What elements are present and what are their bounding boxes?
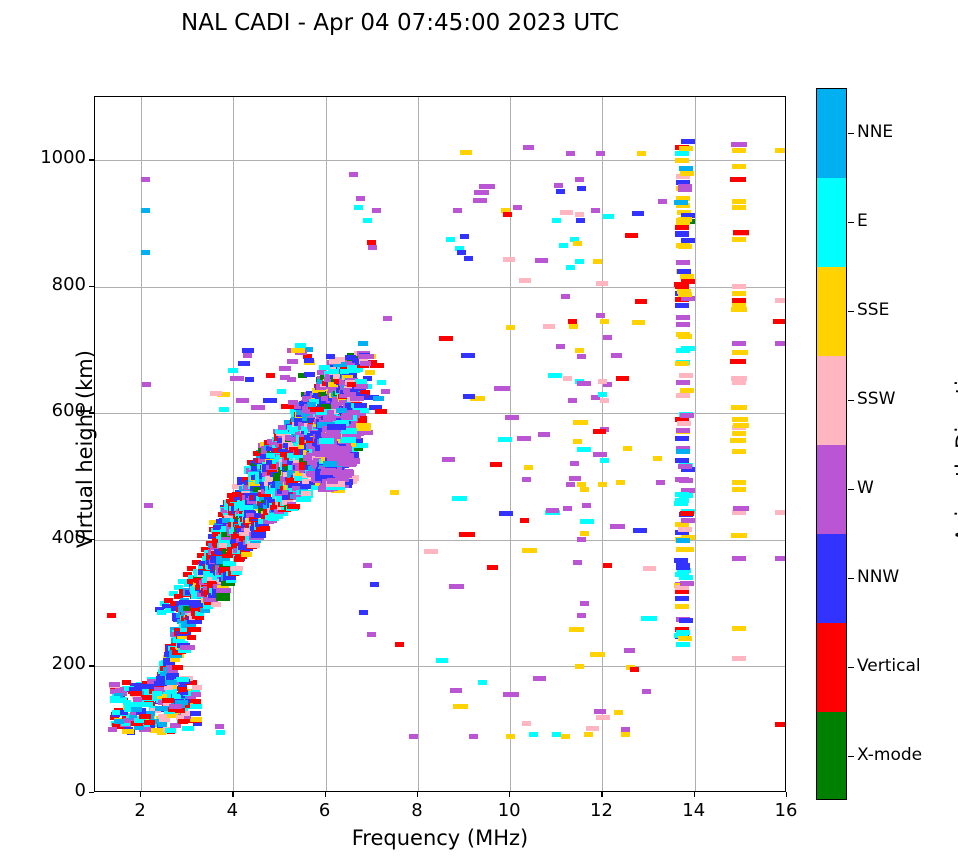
- echo-mark: [442, 457, 455, 462]
- echo-mark: [633, 528, 647, 533]
- echo-mark: [506, 734, 515, 739]
- echo-mark: [336, 408, 347, 413]
- echo-mark: [775, 722, 786, 727]
- echo-mark: [238, 361, 250, 366]
- echo-mark: [679, 146, 693, 151]
- echo-mark: [554, 183, 563, 188]
- echo-mark: [358, 341, 368, 346]
- x-tick: [325, 792, 326, 797]
- echo-mark: [479, 184, 495, 189]
- echo-mark: [304, 372, 315, 377]
- echo-mark: [409, 734, 418, 739]
- echo-mark: [513, 205, 522, 210]
- echo-mark: [575, 664, 584, 669]
- echo-mark: [165, 680, 177, 685]
- echo-mark: [360, 361, 371, 366]
- echo-mark: [363, 218, 372, 223]
- ionogram-figure: NAL CADI - Apr 04 07:45:00 2023 UTC 2468…: [0, 0, 958, 857]
- echo-mark: [582, 503, 591, 508]
- echo-mark: [675, 604, 689, 609]
- echo-mark: [142, 684, 154, 689]
- echo-mark: [680, 388, 694, 393]
- echo-mark: [144, 503, 153, 508]
- echo-mark: [731, 376, 747, 381]
- echo-mark: [575, 212, 584, 217]
- echo-mark: [375, 409, 387, 414]
- echo-mark: [596, 151, 605, 156]
- colorbar-tick-label: NNW: [857, 567, 899, 587]
- echo-mark: [775, 510, 786, 515]
- echo-mark: [499, 511, 513, 516]
- echo-mark: [390, 490, 399, 495]
- x-tick-label: 8: [387, 800, 447, 821]
- echo-mark: [732, 148, 746, 153]
- echo-mark: [559, 243, 568, 248]
- echo-mark: [676, 642, 690, 647]
- echo-mark: [577, 613, 586, 618]
- echo-mark: [600, 398, 609, 403]
- echo-mark: [241, 552, 252, 557]
- echo-mark: [678, 187, 692, 192]
- echo-mark: [354, 205, 363, 210]
- echo-mark: [503, 692, 519, 697]
- colorbar-band-nne: [817, 89, 846, 178]
- echo-mark: [522, 548, 537, 553]
- colorbar-tick-label: X-mode: [857, 745, 922, 765]
- echo-mark: [319, 438, 334, 444]
- echo-mark: [193, 704, 202, 709]
- colorbar-tick: [848, 489, 854, 490]
- echo-mark: [329, 359, 341, 364]
- echo-mark: [676, 565, 690, 570]
- echo-mark: [680, 581, 694, 586]
- echo-mark: [678, 464, 692, 469]
- echo-mark: [304, 358, 314, 363]
- echo-mark: [190, 711, 201, 716]
- echo-mark: [155, 706, 168, 711]
- echo-mark: [301, 491, 311, 496]
- colorbar-tick: [848, 756, 854, 757]
- echo-mark: [580, 487, 589, 492]
- echo-mark: [732, 350, 748, 355]
- echo-mark: [395, 642, 404, 647]
- colorbar-tick: [848, 133, 854, 134]
- echo-mark: [681, 518, 695, 523]
- echo-mark: [730, 359, 746, 364]
- echo-mark: [517, 436, 531, 441]
- echo-mark: [732, 199, 746, 204]
- echo-mark: [178, 719, 188, 724]
- echo-mark: [190, 717, 202, 722]
- echo-mark: [460, 150, 472, 155]
- echo-mark: [632, 320, 645, 325]
- echo-mark: [370, 582, 379, 587]
- echo-mark: [603, 563, 612, 568]
- echo-mark: [596, 715, 610, 720]
- echo-mark: [287, 504, 300, 509]
- x-tick-label: 14: [664, 800, 724, 821]
- echo-mark: [109, 682, 120, 687]
- echo-mark: [603, 335, 612, 340]
- echo-mark: [332, 455, 347, 461]
- echo-mark: [277, 389, 286, 394]
- echo-mark: [678, 636, 692, 641]
- echo-mark: [341, 414, 353, 420]
- echo-mark: [280, 375, 290, 380]
- echo-mark: [566, 265, 575, 270]
- echo-mark: [732, 205, 746, 210]
- echo-mark: [596, 281, 608, 286]
- echo-mark: [552, 218, 561, 223]
- echo-mark: [732, 431, 746, 436]
- echo-mark: [676, 315, 690, 320]
- echo-mark: [474, 190, 489, 195]
- echo-mark: [452, 496, 467, 501]
- echo-mark: [624, 648, 635, 653]
- echo-mark: [680, 171, 694, 176]
- echo-mark: [676, 220, 690, 225]
- echo-mark: [580, 519, 594, 524]
- echo-mark: [621, 732, 630, 737]
- echo-mark: [347, 382, 356, 387]
- echo-mark: [357, 384, 368, 389]
- colorbar-tick-label: NNE: [857, 122, 893, 142]
- echo-mark: [656, 480, 665, 485]
- echo-mark: [130, 691, 142, 696]
- echo-mark: [368, 245, 377, 250]
- echo-mark: [245, 377, 254, 382]
- echo-mark: [162, 698, 174, 703]
- echo-mark: [643, 566, 656, 571]
- echo-mark: [580, 531, 589, 536]
- echo-mark: [210, 391, 222, 396]
- colorbar-band-x-mode: [817, 712, 846, 800]
- echo-mark: [523, 145, 534, 150]
- echo-mark: [594, 709, 606, 714]
- echo-mark: [679, 575, 693, 580]
- echo-mark: [731, 307, 747, 312]
- echo-mark: [133, 697, 142, 702]
- echo-mark: [593, 259, 602, 264]
- echo-mark: [676, 538, 690, 543]
- echo-mark: [349, 172, 358, 177]
- echo-mark: [616, 376, 629, 381]
- x-tick-label: 12: [571, 800, 631, 821]
- echo-mark: [680, 547, 694, 552]
- echo-mark: [490, 462, 502, 467]
- colorbar-tick-label: E: [857, 211, 868, 231]
- echo-mark: [598, 482, 607, 487]
- echo-mark: [593, 429, 606, 434]
- x-tick-label: 16: [756, 800, 816, 821]
- echo-mark: [461, 353, 475, 358]
- echo-mark: [141, 208, 150, 213]
- gridline-vertical: [695, 97, 696, 791]
- echo-mark: [195, 615, 204, 620]
- echo-mark: [503, 212, 512, 217]
- echo-mark: [577, 537, 586, 542]
- echo-mark: [675, 158, 689, 163]
- echo-mark: [641, 616, 657, 621]
- echo-mark: [573, 560, 582, 565]
- echo-mark: [383, 316, 392, 321]
- echo-mark: [732, 237, 746, 242]
- echo-mark: [598, 392, 607, 397]
- echo-mark: [122, 680, 131, 685]
- echo-mark: [288, 400, 298, 405]
- colorbar-tick: [848, 400, 854, 401]
- echo-mark: [236, 398, 249, 403]
- echo-mark: [260, 526, 270, 531]
- echo-mark: [775, 556, 786, 561]
- echo-mark: [681, 296, 695, 301]
- x-tick-label: 2: [110, 800, 170, 821]
- x-tick-label: 4: [202, 800, 262, 821]
- echo-mark: [732, 341, 746, 346]
- echo-mark: [535, 258, 548, 263]
- gridline-vertical: [602, 97, 603, 791]
- echo-mark: [457, 250, 466, 255]
- x-tick: [232, 792, 233, 797]
- echo-mark: [732, 164, 746, 169]
- echo-mark: [152, 691, 162, 696]
- echo-mark: [216, 588, 231, 593]
- x-tick: [601, 792, 602, 797]
- echo-mark: [370, 363, 384, 368]
- echo-mark: [611, 353, 622, 358]
- echo-mark: [377, 380, 386, 385]
- echo-mark: [263, 398, 277, 403]
- x-axis-label: Frequency (MHz): [94, 826, 786, 850]
- echo-mark: [674, 501, 688, 506]
- echo-mark: [164, 685, 173, 690]
- gridline-vertical: [510, 97, 511, 791]
- echo-mark: [676, 449, 690, 454]
- echo-mark: [180, 645, 195, 650]
- echo-mark: [487, 565, 498, 570]
- echo-mark: [543, 324, 555, 329]
- echo-mark: [327, 424, 346, 430]
- echo-mark: [653, 456, 662, 461]
- x-tick-label: 10: [479, 800, 539, 821]
- echo-mark: [307, 402, 316, 407]
- echo-mark: [678, 334, 692, 339]
- colorbar-tick-label: W: [857, 478, 874, 498]
- echo-mark: [439, 336, 453, 341]
- echo-mark: [243, 353, 252, 358]
- echo-mark: [141, 250, 150, 255]
- echo-mark: [546, 508, 559, 513]
- echo-mark: [586, 726, 599, 731]
- echo-mark: [356, 196, 365, 201]
- echo-mark: [732, 417, 748, 422]
- echo-mark: [573, 420, 588, 425]
- echo-mark: [150, 728, 163, 733]
- echo-mark: [678, 292, 692, 297]
- echo-mark: [616, 480, 625, 485]
- echo-mark: [675, 151, 689, 156]
- echo-mark: [730, 438, 746, 443]
- echo-mark: [327, 478, 338, 484]
- x-tick: [140, 792, 141, 797]
- echo-mark: [563, 376, 572, 381]
- echo-mark: [577, 447, 591, 452]
- echo-mark: [449, 584, 464, 589]
- echo-mark: [732, 626, 746, 631]
- echo-mark: [679, 618, 693, 623]
- echo-mark: [498, 437, 512, 442]
- echo-mark: [503, 257, 515, 262]
- echo-mark: [600, 458, 609, 463]
- echo-mark: [172, 665, 183, 670]
- echo-mark: [580, 601, 589, 606]
- echo-mark: [676, 393, 690, 398]
- echo-mark: [577, 186, 586, 191]
- echo-mark: [625, 233, 638, 238]
- echo-mark: [192, 685, 202, 690]
- echo-mark: [679, 166, 693, 171]
- echo-mark: [158, 722, 167, 727]
- echo-mark: [732, 480, 746, 485]
- echo-mark: [732, 556, 746, 561]
- echo-mark: [731, 533, 747, 538]
- colorbar: [816, 88, 847, 800]
- echo-mark: [637, 151, 646, 156]
- gridline-vertical: [418, 97, 419, 791]
- echo-mark: [677, 269, 691, 274]
- echo-mark: [575, 177, 584, 182]
- echo-mark: [675, 436, 689, 441]
- echo-mark: [142, 382, 151, 387]
- echo-mark: [424, 549, 438, 554]
- y-axis-label: Virtual height (km): [73, 99, 97, 799]
- echo-mark: [450, 688, 462, 693]
- echo-mark: [367, 632, 376, 637]
- echo-mark: [658, 199, 667, 204]
- echo-mark: [529, 732, 538, 737]
- echo-mark: [556, 189, 565, 194]
- echo-mark: [603, 214, 614, 219]
- echo-mark: [598, 452, 607, 457]
- echo-mark: [112, 710, 120, 715]
- echo-mark: [478, 680, 487, 685]
- echo-mark: [600, 319, 609, 324]
- echo-mark: [623, 446, 632, 451]
- echo-mark: [733, 230, 749, 235]
- echo-mark: [675, 303, 689, 308]
- echo-mark: [621, 727, 630, 732]
- echo-mark: [732, 510, 746, 515]
- echo-mark: [459, 532, 475, 537]
- echo-mark: [575, 348, 584, 353]
- echo-mark: [381, 389, 390, 394]
- echo-mark: [469, 734, 478, 739]
- echo-mark: [678, 244, 692, 249]
- echo-mark: [733, 423, 749, 428]
- colorbar-tick: [848, 578, 854, 579]
- x-tick-label: 6: [295, 800, 355, 821]
- echo-mark: [340, 369, 349, 374]
- echo-mark: [266, 373, 275, 378]
- colorbar-tick-label: SSE: [857, 300, 889, 320]
- colorbar-label: Azimuth Direction: [952, 98, 958, 798]
- echo-mark: [676, 322, 690, 327]
- echo-mark: [228, 368, 238, 373]
- echo-mark: [732, 284, 746, 289]
- echo-mark: [211, 602, 221, 607]
- echo-mark: [635, 299, 647, 304]
- echo-mark: [732, 487, 746, 492]
- echo-mark: [598, 379, 607, 384]
- echo-mark: [123, 700, 131, 705]
- echo-mark: [446, 237, 455, 242]
- echo-mark: [522, 721, 531, 726]
- echo-mark: [182, 726, 194, 731]
- echo-mark: [548, 373, 562, 378]
- echo-mark: [732, 449, 746, 454]
- echo-mark: [187, 635, 196, 640]
- echo-mark: [630, 667, 639, 672]
- echo-mark: [568, 398, 577, 403]
- echo-mark: [569, 324, 578, 329]
- echo-mark: [573, 241, 582, 246]
- echo-mark: [676, 260, 690, 265]
- echo-mark: [731, 405, 747, 410]
- echo-mark: [291, 348, 305, 353]
- echo-mark: [219, 407, 229, 412]
- echo-mark: [216, 593, 230, 601]
- echo-mark: [187, 627, 201, 632]
- echo-mark: [775, 341, 786, 346]
- echo-mark: [632, 211, 644, 216]
- echo-mark: [680, 511, 694, 516]
- echo-mark: [494, 386, 510, 391]
- echo-mark: [524, 465, 533, 470]
- x-tick: [694, 792, 695, 797]
- echo-mark: [464, 256, 473, 261]
- echo-mark: [675, 589, 689, 594]
- echo-mark: [561, 294, 570, 299]
- echo-mark: [176, 677, 189, 682]
- echo-mark: [675, 492, 689, 497]
- echo-mark: [561, 734, 570, 739]
- echo-mark: [732, 291, 746, 296]
- colorbar-band-ssw: [817, 356, 846, 445]
- echo-mark: [453, 208, 462, 213]
- echo-mark: [773, 319, 786, 324]
- echo-mark: [139, 714, 151, 719]
- echo-mark: [674, 558, 688, 563]
- echo-mark: [473, 198, 487, 203]
- plot-area: [94, 96, 786, 792]
- echo-mark: [677, 421, 691, 426]
- echo-mark: [733, 506, 749, 511]
- echo-mark: [114, 719, 124, 724]
- echo-mark: [674, 200, 688, 205]
- echo-mark: [287, 359, 298, 364]
- echo-mark: [453, 704, 468, 709]
- echo-mark: [122, 729, 134, 734]
- echo-mark: [675, 361, 689, 366]
- colorbar-tick: [848, 222, 854, 223]
- echo-mark: [279, 366, 291, 371]
- x-tick: [417, 792, 418, 797]
- echo-mark: [642, 689, 651, 694]
- echo-mark: [359, 610, 368, 615]
- echo-mark: [506, 325, 515, 330]
- echo-mark: [675, 596, 689, 601]
- echo-mark: [566, 151, 575, 156]
